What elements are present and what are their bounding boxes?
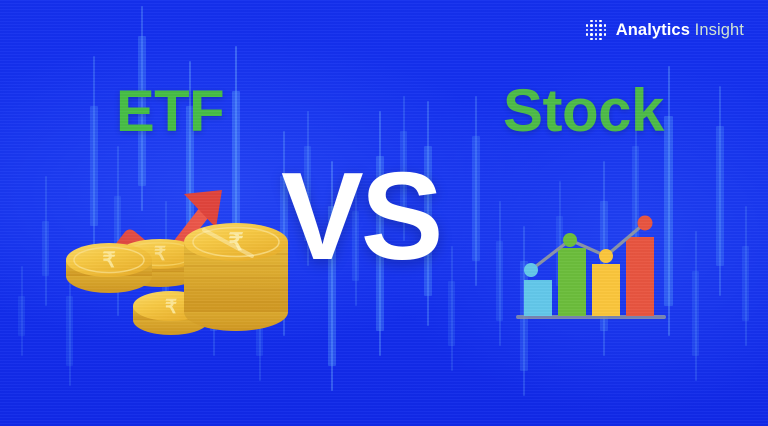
candlestick-body	[472, 136, 480, 261]
grid-dot	[590, 29, 593, 32]
grid-dot	[599, 38, 602, 41]
grid-dot	[595, 20, 598, 23]
svg-text:₹: ₹	[165, 297, 177, 318]
headline-versus: VS	[281, 155, 440, 279]
grid-dot	[586, 33, 589, 36]
candlestick	[496, 0, 503, 426]
candlestick-body	[692, 271, 699, 356]
gold-coins-illustration: ₹ ₹ ₹	[56, 180, 296, 335]
candlestick-body	[742, 246, 749, 321]
grid-dot-empty	[604, 20, 607, 23]
candlestick	[448, 0, 455, 426]
candlestick	[42, 0, 49, 426]
grid-dot	[590, 20, 593, 23]
grid-dot	[604, 29, 607, 32]
coin-left-flat: ₹	[66, 243, 152, 293]
grid-dot	[599, 20, 602, 23]
brand-logo[interactable]: Analytics Insight	[586, 17, 744, 43]
brand-name: Analytics Insight	[616, 22, 744, 39]
grid-dot	[586, 29, 589, 32]
bar-1	[524, 280, 552, 316]
bar-chart-illustration	[508, 208, 673, 330]
trend-marker-3	[599, 249, 613, 263]
trend-marker-2	[563, 233, 577, 247]
grid-dot	[599, 24, 602, 27]
grid-dot-empty	[586, 20, 589, 23]
headline-right-word: Stock	[503, 76, 664, 145]
banner-graphic: ETF Stock	[0, 0, 768, 426]
coin-stack-tall: ₹	[184, 223, 288, 331]
candlestick-body	[18, 296, 25, 336]
candlestick-body	[448, 281, 455, 346]
svg-text:₹: ₹	[102, 248, 115, 272]
candlestick	[18, 0, 25, 426]
grid-dot	[595, 24, 598, 27]
headline-left-word: ETF	[116, 78, 224, 145]
grid-dot	[595, 38, 598, 41]
candlestick-body	[496, 241, 503, 321]
candlestick-body	[42, 221, 49, 276]
candlestick	[716, 0, 724, 426]
grid-dot	[599, 29, 602, 32]
grid-dot	[590, 24, 593, 27]
grid-dot-empty	[586, 38, 589, 41]
candlestick-body	[716, 126, 724, 266]
bar-3	[592, 264, 620, 316]
bar-2	[558, 248, 586, 316]
grid-dot	[604, 24, 607, 27]
bar-4	[626, 237, 654, 316]
dot-grid-icon	[586, 20, 607, 41]
candlestick	[742, 0, 749, 426]
trend-marker-4	[638, 216, 653, 231]
svg-text:₹: ₹	[154, 244, 166, 265]
candlestick	[692, 0, 699, 426]
grid-dot	[604, 33, 607, 36]
grid-dot	[595, 29, 598, 32]
grid-dot-empty	[604, 38, 607, 41]
trend-marker-1	[524, 263, 538, 277]
grid-dot	[586, 24, 589, 27]
grid-dot	[595, 33, 598, 36]
grid-dot	[599, 33, 602, 36]
brand-name-primary: Analytics	[616, 21, 690, 39]
brand-name-secondary: Insight	[695, 21, 744, 39]
candlestick	[472, 0, 480, 426]
grid-dot	[590, 38, 593, 41]
grid-dot	[590, 33, 593, 36]
